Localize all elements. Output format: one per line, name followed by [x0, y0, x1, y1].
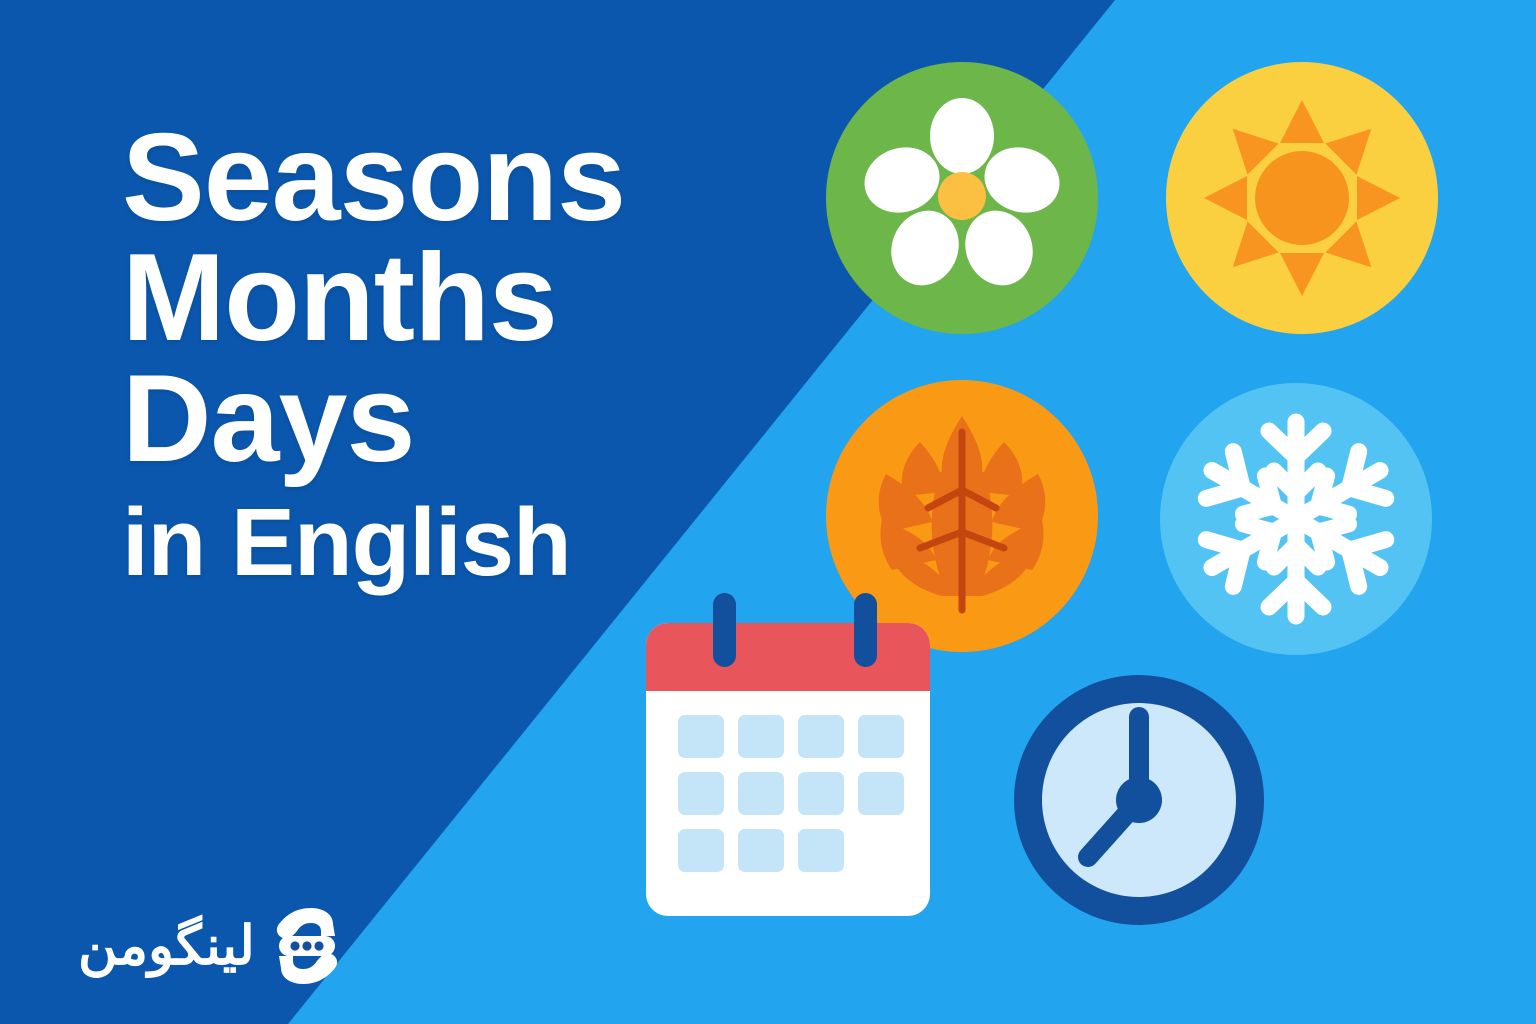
- clock-center-pin: [1116, 777, 1162, 823]
- calendar-body: [646, 623, 930, 916]
- calendar-day-cell: [738, 715, 784, 758]
- calendar-day-cell: [678, 829, 724, 872]
- calendar-icon: [646, 590, 930, 916]
- snowflake-icon-badge: [1160, 383, 1432, 655]
- title-line-days: Days: [122, 359, 762, 479]
- poster-canvas: Seasons Months Days in English: [0, 0, 1536, 1024]
- flower-icon: [826, 62, 1098, 334]
- page-title: Seasons Months Days in English: [122, 118, 762, 591]
- calendar-day-cell: [798, 772, 844, 815]
- calendar-header-band: [646, 623, 930, 691]
- calendar-day-cell-empty: [858, 829, 904, 872]
- lingoman-chat-mark-icon: [265, 904, 349, 988]
- brand-logo[interactable]: لینگومن: [78, 903, 368, 989]
- calendar-ring-left: [713, 593, 736, 667]
- calendar-day-cell: [678, 715, 724, 758]
- title-line-months: Months: [122, 238, 762, 358]
- calendar-day-cell: [678, 772, 724, 815]
- calendar-day-grid: [678, 715, 904, 872]
- calendar-ring-right: [854, 593, 877, 667]
- brand-wordmark: لینگومن: [78, 919, 255, 973]
- calendar-day-cell: [858, 772, 904, 815]
- calendar-day-cell: [798, 715, 844, 758]
- clock-icon: [1004, 665, 1274, 935]
- title-line-in-english: in English: [122, 495, 762, 591]
- calendar-day-cell: [798, 829, 844, 872]
- calendar-day-cell: [738, 772, 784, 815]
- title-line-seasons: Seasons: [122, 118, 762, 238]
- flower-icon-badge: [826, 62, 1098, 334]
- calendar-day-cell: [738, 829, 784, 872]
- sun-icon: [1166, 62, 1438, 334]
- snowflake-icon: [1160, 383, 1432, 655]
- calendar-day-cell: [858, 715, 904, 758]
- sun-icon-badge: [1166, 62, 1438, 334]
